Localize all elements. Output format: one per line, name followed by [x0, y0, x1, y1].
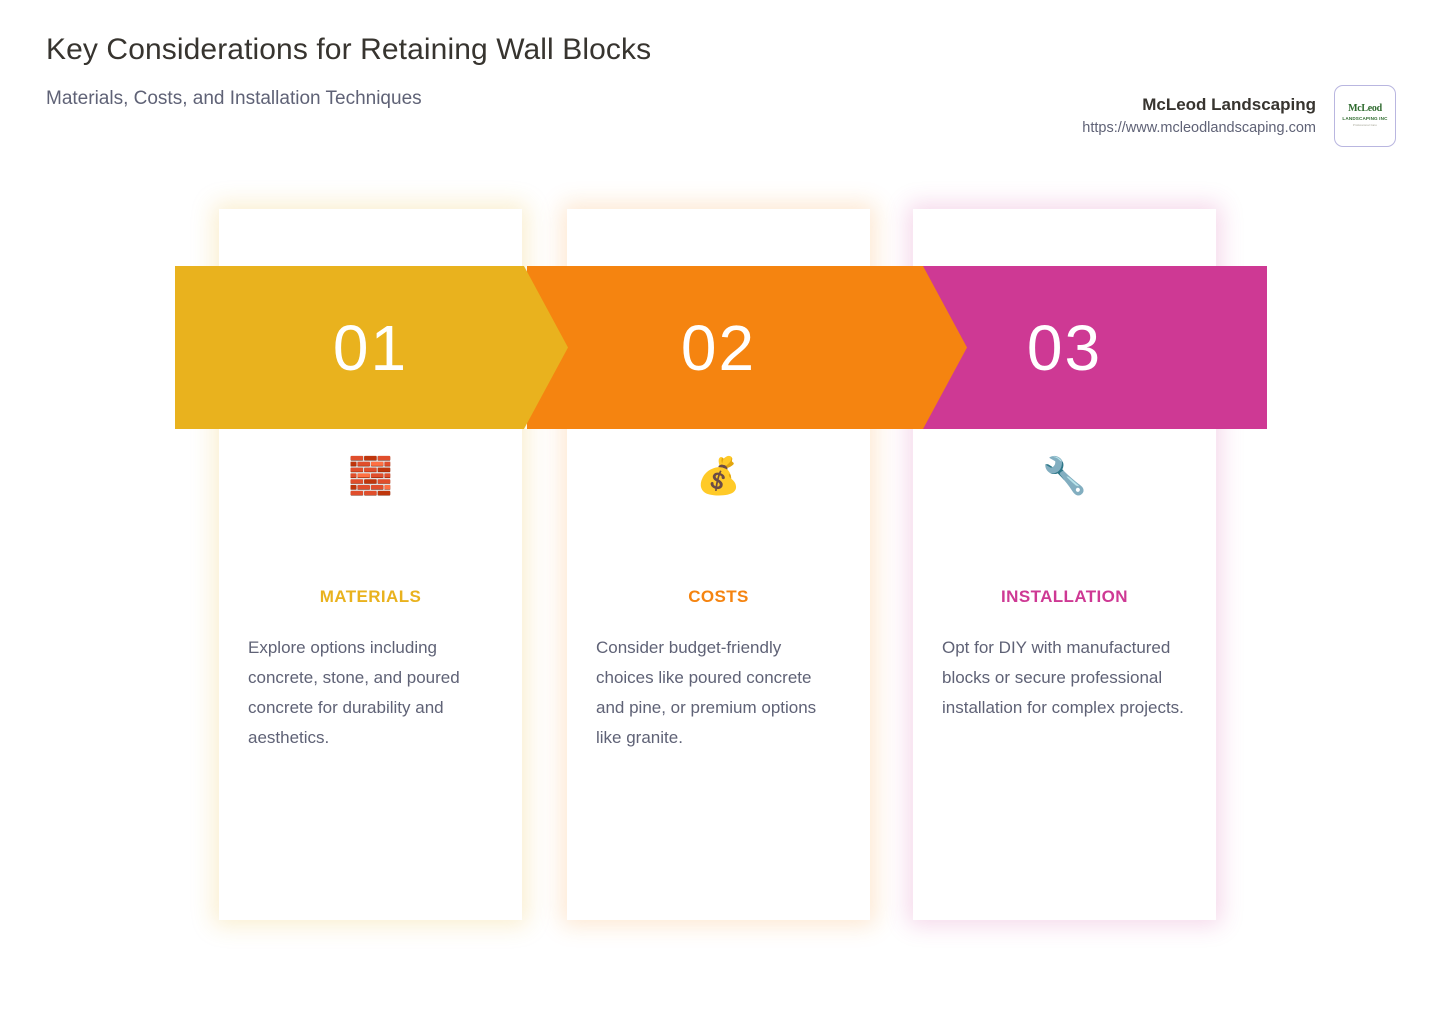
wrench-icon: 🔧	[913, 455, 1216, 499]
infographic-page: Key Considerations for Retaining Wall Bl…	[0, 0, 1440, 1024]
step-body-costs: Consider budget-friendly choices like po…	[596, 633, 841, 753]
branding: McLeod Landscaping https://www.mcleodlan…	[1082, 85, 1396, 147]
step-body-installation: Opt for DIY with manufactured blocks or …	[942, 633, 1187, 723]
brand-name: McLeod Landscaping	[1082, 94, 1316, 116]
brick-icon: 🧱	[219, 455, 522, 499]
step-body-materials: Explore options including concrete, ston…	[248, 633, 493, 753]
chevron-segment-2	[527, 266, 967, 429]
money-bag-icon: 💰	[567, 455, 870, 499]
brand-logo-line-2: LANDSCAPING INC	[1342, 115, 1387, 122]
page-subtitle: Materials, Costs, and Installation Techn…	[46, 86, 746, 112]
step-chevron-banner: 01 02 03	[175, 266, 1267, 429]
step-label-materials: MATERIALS	[219, 587, 522, 607]
brand-logo-line-1: McLeod	[1348, 104, 1382, 114]
brand-url[interactable]: https://www.mcleodlandscaping.com	[1082, 119, 1316, 138]
brand-logo[interactable]: McLeod LANDSCAPING INC Professional Care	[1334, 85, 1396, 147]
header: Key Considerations for Retaining Wall Bl…	[46, 24, 746, 112]
brand-logo-line-3: Professional Care	[1353, 123, 1377, 128]
page-title: Key Considerations for Retaining Wall Bl…	[46, 24, 666, 76]
step-label-costs: COSTS	[567, 587, 870, 607]
brand-text: McLeod Landscaping https://www.mcleodlan…	[1082, 94, 1316, 138]
step-label-installation: INSTALLATION	[913, 587, 1216, 607]
chevron-segment-1	[175, 266, 568, 429]
